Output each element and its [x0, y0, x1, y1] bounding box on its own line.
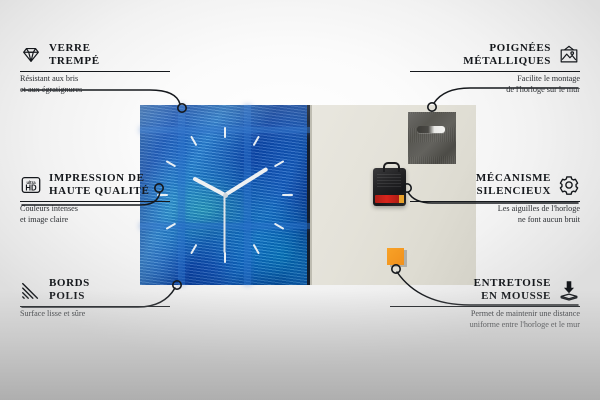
hour-marker [224, 127, 226, 138]
callout-desc-line-2: de l'horloge sur le mur [410, 85, 580, 96]
callout-impression-haute-qualite: ultra HD IMPRESSION DE HAUTE QUALITÉ Cou… [20, 172, 170, 225]
callout-desc-line-2: et image claire [20, 215, 170, 226]
ultra-hd-icon: ultra HD [20, 174, 42, 196]
callout-title-line-2: MÉTALLIQUES [463, 55, 551, 68]
callout-title-line-1: MÉCANISME [476, 172, 551, 185]
callout-desc-line-2: ne font aucun bruit [410, 215, 580, 226]
gear-icon [558, 174, 580, 196]
hour-marker [253, 136, 260, 147]
diamond-icon [20, 44, 42, 66]
callout-desc-line-1: Permet de maintenir une distance [390, 309, 580, 320]
callout-title-line-1: BORDS [49, 277, 90, 290]
callout-title-line-1: ENTRETOISE [474, 277, 551, 290]
hour-marker [274, 160, 285, 167]
callout-bords-polis: BORDS POLIS Surface lisse et sûre [20, 277, 170, 320]
hour-marker [253, 244, 260, 255]
hour-marker [190, 136, 197, 147]
picture-frame-icon [558, 44, 580, 66]
mechanism-hook [383, 162, 400, 172]
callout-rule [20, 71, 170, 72]
callout-desc-line-1: Résistant aux bris [20, 74, 170, 85]
clock-center-cap [223, 193, 228, 198]
callout-title-line-2: TREMPÉ [49, 55, 100, 68]
callout-title-line-2: SILENCIEUX [476, 185, 551, 198]
hour-marker [224, 252, 226, 263]
callout-entretoise-en-mousse: ENTRETOISE EN MOUSSE Permet de maintenir… [390, 277, 580, 330]
callout-poignees-metalliques: POIGNÉES MÉTALLIQUES Facilite le montage… [410, 42, 580, 95]
ultra-hd-icon-large-text: HD [25, 184, 37, 193]
callout-title-line-2: POLIS [49, 290, 90, 303]
battery [375, 195, 401, 203]
callout-desc-line-1: Facilite le montage [410, 74, 580, 85]
hour-marker [166, 160, 177, 167]
callout-title-line-1: VERRE [49, 42, 100, 55]
hanger-keyhole-slot [417, 126, 445, 133]
foam-spacer [387, 248, 404, 265]
callout-rule [410, 201, 580, 202]
arrow-down-to-base-icon [558, 279, 580, 301]
callout-desc-line-2: et aux égratignures [20, 85, 170, 96]
mechanism-label [377, 174, 401, 187]
callout-title-line-1: IMPRESSION DE [49, 172, 149, 185]
callout-rule [20, 306, 170, 307]
callout-title-line-2: EN MOUSSE [474, 290, 551, 303]
callout-verre-trempe: VERRE TREMPÉ Résistant aux bris et aux é… [20, 42, 170, 95]
callout-title-line-1: POIGNÉES [463, 42, 551, 55]
hour-marker [282, 194, 293, 196]
hour-marker [190, 244, 197, 255]
infographic-canvas: VERRE TREMPÉ Résistant aux bris et aux é… [0, 0, 600, 400]
callout-rule [20, 201, 170, 202]
callout-desc-line-1: Les aiguilles de l'horloge [410, 204, 580, 215]
callout-mecanisme-silencieux: MÉCANISME SILENCIEUX Les aiguilles de l'… [410, 172, 580, 225]
clock-hour-hand [192, 176, 226, 196]
clock-mechanism [373, 168, 406, 206]
callout-title-line-2: HAUTE QUALITÉ [49, 185, 149, 198]
callout-desc-line-1: Couleurs intenses [20, 204, 170, 215]
hanger-plate [408, 112, 456, 164]
callout-desc-line-2: uniforme entre l'horloge et le mur [390, 320, 580, 331]
callout-rule [390, 306, 580, 307]
callout-rule [410, 71, 580, 72]
polished-edge-icon [20, 279, 42, 301]
callout-desc-line-1: Surface lisse et sûre [20, 309, 170, 320]
